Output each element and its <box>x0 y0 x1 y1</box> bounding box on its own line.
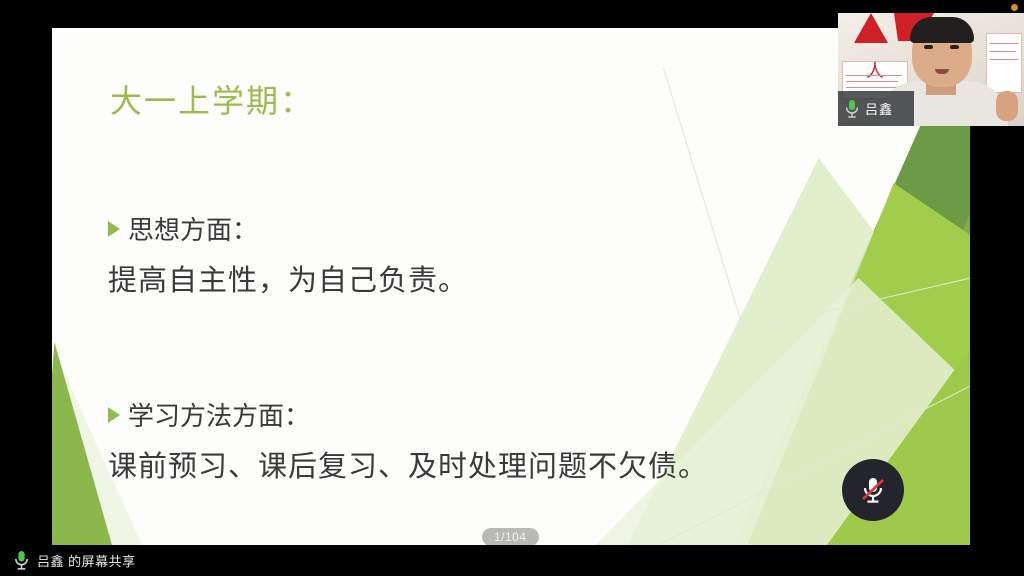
presentation-slide[interactable]: 大一上学期： 思想方面： 提高自主性，为自己负责。 学习方法方面： 课前预习、课… <box>52 28 970 545</box>
slide-bullet-group-1: 思想方面： 提高自主性，为自己负责。 <box>108 210 468 299</box>
page-indicator: 1/104 <box>482 528 539 545</box>
participant-video-thumbnail[interactable]: 人 吕鑫 <box>838 13 1024 126</box>
participant-eye-right <box>950 45 959 49</box>
slide-bullet-body-2: 课前预习、课后复习、及时处理问题不欠债。 <box>108 443 708 485</box>
microphone-icon <box>845 99 859 119</box>
slide-bullet-heading-1-text: 思想方面： <box>128 210 258 247</box>
recording-indicator-dot <box>1011 4 1018 11</box>
poster-text-line <box>846 81 898 82</box>
mute-microphone-button[interactable] <box>842 459 904 521</box>
screen-share-status-label: 吕鑫 的屏幕共享 <box>37 551 136 570</box>
slide-title: 大一上学期： <box>110 76 314 122</box>
poster-text-line <box>846 75 902 76</box>
microphone-icon[interactable] <box>14 550 29 571</box>
slide-bullet-heading-2: 学习方法方面： <box>108 396 708 433</box>
slide-bullet-group-2: 学习方法方面： 课前预习、课后复习、及时处理问题不欠债。 <box>108 396 708 485</box>
participant-hair <box>910 17 974 43</box>
participant-eye-left <box>924 45 933 49</box>
slide-bullet-body-1: 提高自主性，为自己负责。 <box>108 257 468 299</box>
slide-bullet-heading-2-text: 学习方法方面： <box>128 396 310 433</box>
participant-name-badge: 吕鑫 <box>838 91 914 126</box>
triangle-bullet-icon <box>108 407 120 423</box>
participant-hand <box>996 91 1018 121</box>
zoom-meeting-window: 大一上学期： 思想方面： 提高自主性，为自己负责。 学习方法方面： 课前预习、课… <box>0 0 1024 576</box>
microphone-muted-icon <box>856 473 890 507</box>
decoration-hairline-a <box>663 68 752 355</box>
triangle-bullet-icon <box>108 221 120 237</box>
decoration-left-green-wedge <box>52 342 112 545</box>
bottom-status-bar: 吕鑫 的屏幕共享 <box>0 545 1024 576</box>
slide-bullet-heading-1: 思想方面： <box>108 210 468 247</box>
participant-name-label: 吕鑫 <box>865 99 893 118</box>
